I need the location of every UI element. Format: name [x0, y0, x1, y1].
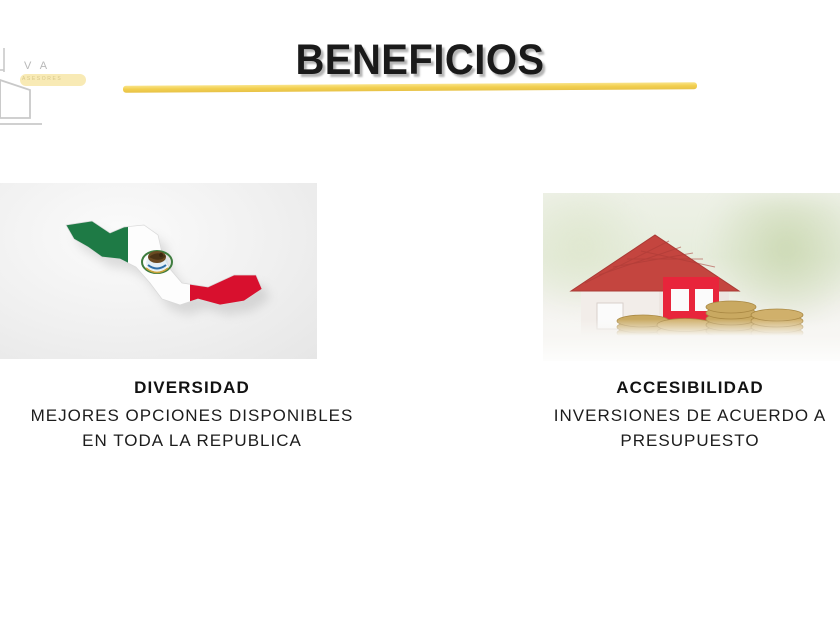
benefit-card-diversidad [0, 183, 317, 359]
photo-ground-fade [543, 319, 840, 361]
slide-title: BENEFICIOS [29, 36, 810, 85]
house-coin-stacks-image [543, 193, 840, 361]
caption-body: MEJORES OPCIONES DISPONIBLES EN TODA LA … [0, 404, 402, 453]
benefit-card-accesibilidad [543, 193, 840, 361]
slide-canvas: V A ASESORES BENEFICIOS [0, 0, 840, 630]
mexico-coat-of-arms [142, 251, 172, 273]
caption-accesibilidad: ACCESIBILIDAD INVERSIONES DE ACUERDO A P… [490, 378, 840, 453]
caption-heading: DIVERSIDAD [0, 378, 402, 398]
mexico-silhouette [60, 215, 270, 327]
caption-heading: ACCESIBILIDAD [490, 378, 840, 398]
mexico-map-flag-image [0, 183, 317, 359]
caption-diversidad: DIVERSIDAD MEJORES OPCIONES DISPONIBLES … [0, 378, 402, 453]
caption-body: INVERSIONES DE ACUERDO A PRESUPUESTO [490, 404, 840, 453]
